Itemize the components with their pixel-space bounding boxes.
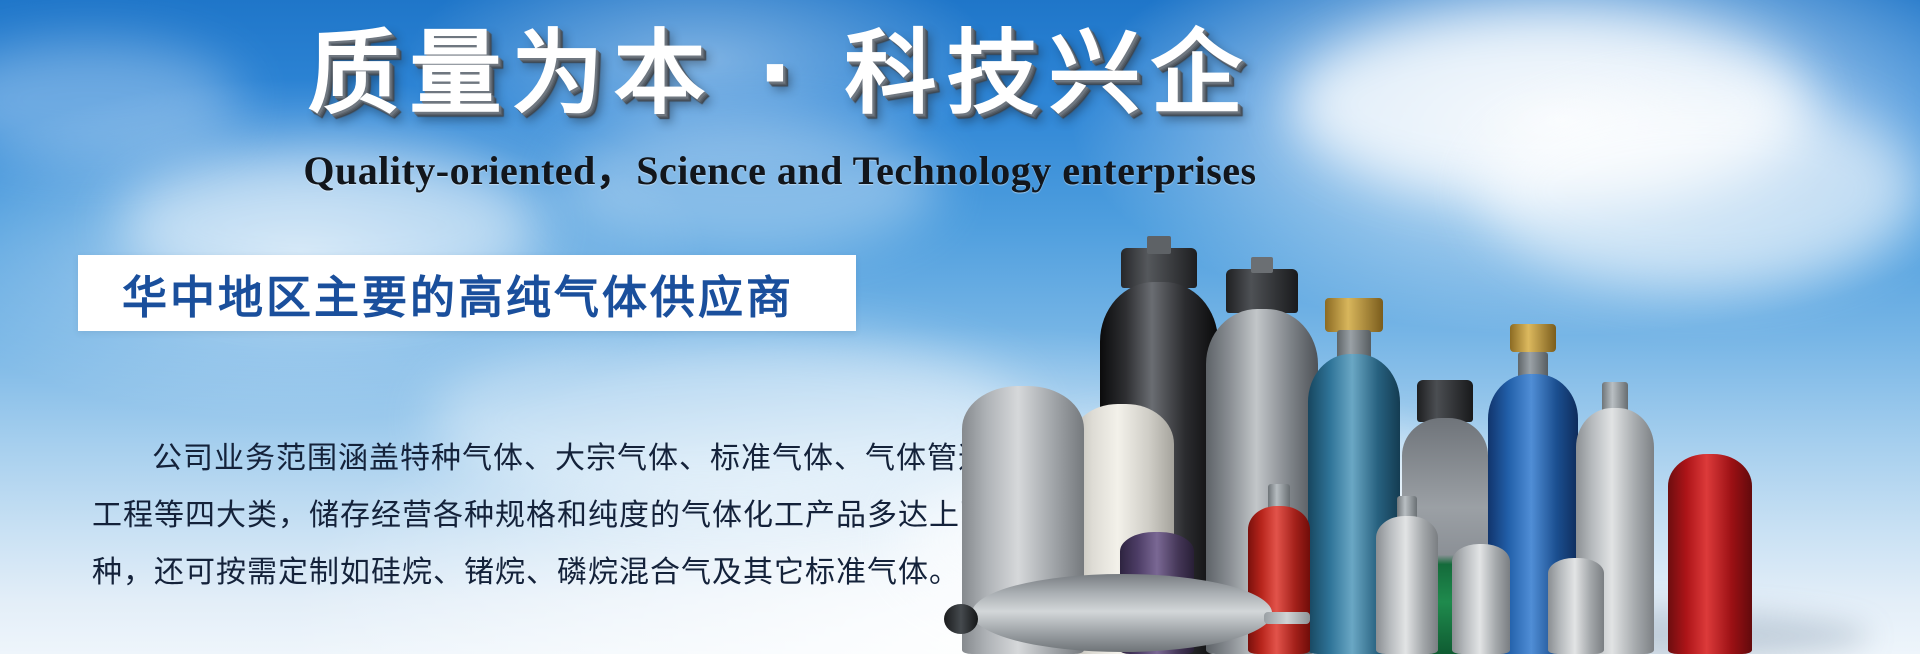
cylinder-valve <box>1251 257 1273 273</box>
banner-headline: 质量为本 · 科技兴企 <box>0 22 1560 125</box>
silver-aluminum-cylinder <box>1548 558 1604 654</box>
tank-nozzle <box>1264 612 1310 624</box>
horizontal-grey-tank <box>972 574 1272 652</box>
highlight-box: 华中地区主要的高纯气体供应商 <box>78 255 856 331</box>
cylinder-body <box>1548 558 1604 654</box>
cylinder-valve <box>1325 298 1383 332</box>
cylinder-body <box>1452 544 1510 654</box>
cylinder-body <box>1248 506 1310 654</box>
red-top-cylinder <box>1248 506 1310 654</box>
paragraph-line: 种，还可按需定制如硅烷、锗烷、磷烷混合气及其它标准气体。 <box>92 544 882 601</box>
gas-cylinder-group-photo <box>1140 150 1920 654</box>
paragraph-line: 工程等四大类，储存经营各种规格和纯度的气体化工产品多达上百 <box>92 487 882 544</box>
cylinder-cap <box>1226 269 1298 313</box>
paragraph-line: 公司业务范围涵盖特种气体、大宗气体、标准气体、气体管道 <box>92 430 882 487</box>
tank-valve <box>944 604 978 634</box>
highlight-box-text: 华中地区主要的高纯气体供应商 <box>78 261 794 326</box>
cylinder-body <box>1668 454 1752 654</box>
cylinder-body <box>1376 516 1438 654</box>
cylinder-cap <box>1417 380 1473 422</box>
cylinder-valve <box>1147 236 1171 254</box>
hero-banner: 质量为本 · 科技兴企 Quality-oriented，Science and… <box>0 0 1920 654</box>
silver-aluminum-cylinder <box>1376 516 1438 654</box>
red-cylinder <box>1668 454 1752 654</box>
cylinder-valve <box>1510 324 1556 352</box>
silver-aluminum-cylinder <box>1452 544 1510 654</box>
banner-paragraph: 公司业务范围涵盖特种气体、大宗气体、标准气体、气体管道 工程等四大类，储存经营各… <box>92 430 882 601</box>
